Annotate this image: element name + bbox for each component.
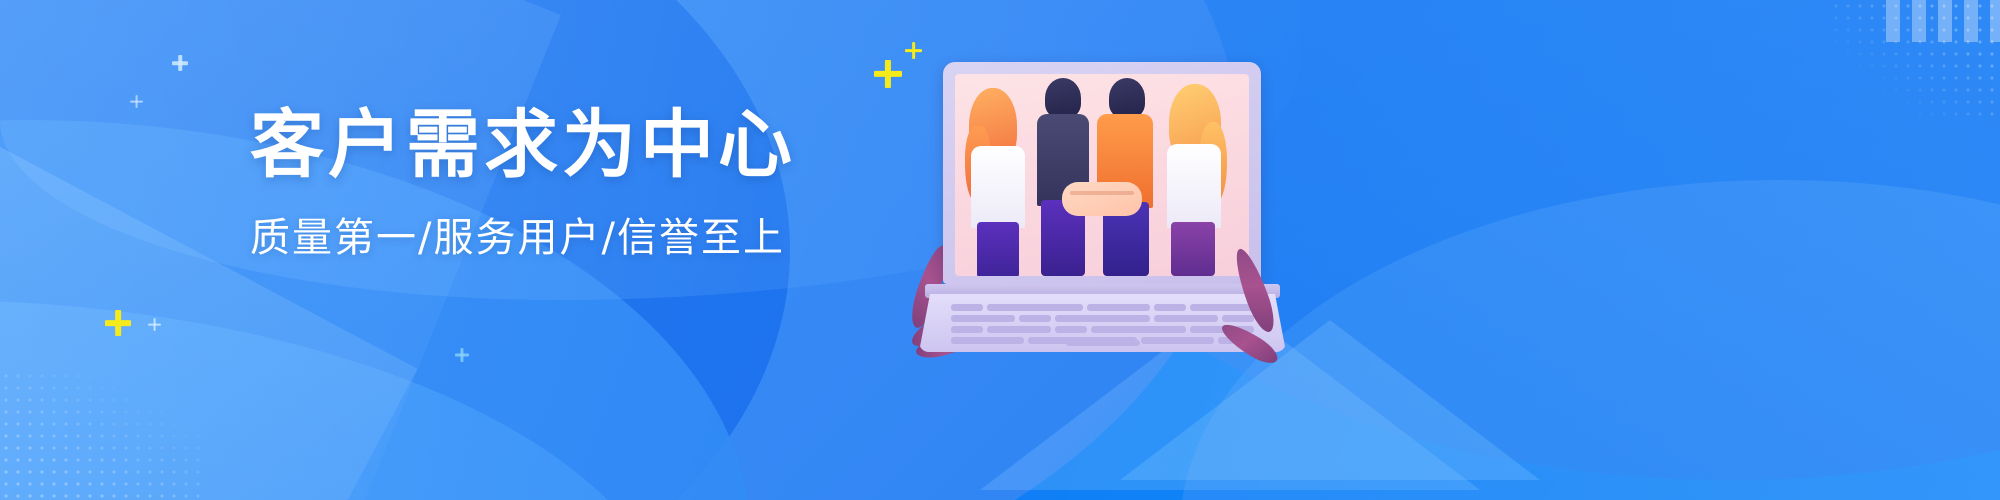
key	[951, 304, 983, 311]
page-title: 客户需求为中心	[250, 108, 850, 183]
person-woman-left	[961, 80, 1035, 276]
key	[951, 315, 1015, 322]
key	[1019, 315, 1051, 322]
key	[1091, 326, 1187, 333]
keyboard-row	[951, 304, 1254, 311]
person-man-right	[1091, 76, 1159, 276]
bar-grid-top-right-icon	[1886, 0, 2000, 42]
plus-yellow-large-icon	[874, 60, 902, 88]
key	[1055, 326, 1087, 333]
person-man-left	[1029, 76, 1095, 276]
key	[1154, 304, 1186, 311]
plus-yellow-bottom-left-icon	[105, 310, 131, 336]
keyboard-row	[951, 315, 1254, 322]
promo-banner: 客户需求为中心 质量第一/服务用户/信誉至上	[0, 0, 2000, 500]
hair	[1045, 78, 1081, 118]
key	[1141, 337, 1214, 344]
dot-grid-bottom-left-icon	[0, 370, 200, 500]
key	[1055, 315, 1151, 322]
laptop-team-illustration	[925, 62, 1280, 352]
page-subtitle: 质量第一/服务用户/信誉至上	[250, 205, 850, 263]
torso-top	[1167, 144, 1221, 228]
hair	[1109, 78, 1145, 118]
key	[987, 326, 1051, 333]
laptop-lid	[943, 62, 1261, 284]
key	[1222, 315, 1254, 322]
banner-text-block: 客户需求为中心 质量第一/服务用户/信誉至上	[250, 108, 850, 263]
plus-white-left-icon	[130, 95, 143, 108]
legs	[1171, 222, 1215, 276]
laptop-keyboard	[951, 304, 1254, 344]
legs	[977, 222, 1019, 276]
plus-white-upper-left-icon	[172, 55, 188, 71]
laptop-screen	[955, 74, 1249, 276]
torso-top	[971, 146, 1025, 228]
key	[1087, 304, 1151, 311]
key	[951, 326, 983, 333]
plus-yellow-small-icon	[905, 42, 922, 59]
joined-hands	[1062, 182, 1142, 216]
laptop-trackpad	[1066, 340, 1140, 346]
key	[987, 304, 1083, 311]
key	[1154, 315, 1218, 322]
plus-cyan-bottom-small-icon	[455, 348, 469, 362]
key	[1190, 304, 1254, 311]
plus-white-bottom-left-icon	[148, 318, 161, 331]
key	[951, 337, 1024, 344]
keyboard-row	[951, 326, 1254, 333]
person-woman-right	[1155, 78, 1237, 276]
